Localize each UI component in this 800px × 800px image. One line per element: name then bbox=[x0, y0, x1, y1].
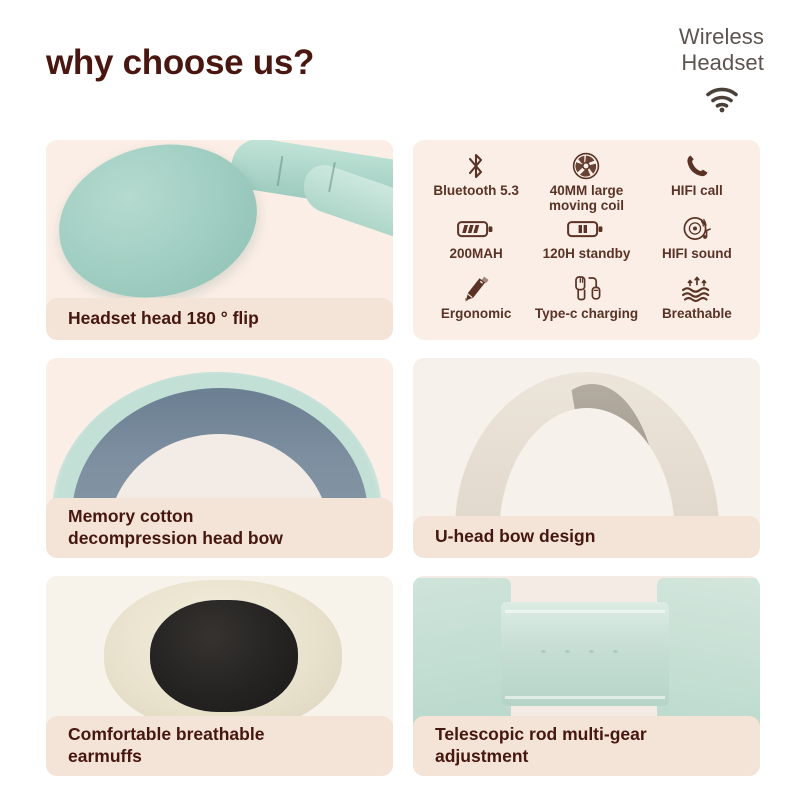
wifi-icon bbox=[584, 85, 764, 113]
card-caption: Comfortable breathable earmuffs bbox=[46, 716, 393, 776]
spec-label: Breathable bbox=[662, 306, 732, 321]
feature-row-3: Comfortable breathable earmuffs Telescop bbox=[46, 576, 760, 776]
spec-label: Ergonomic bbox=[441, 306, 512, 321]
pencil-ruler-icon bbox=[461, 273, 491, 305]
usb-c-cable-icon bbox=[570, 273, 602, 305]
card-caption: Headset head 180 ° flip bbox=[46, 298, 393, 340]
spec-label: 200MAH bbox=[450, 246, 503, 261]
spec-item-standby[interactable]: 120H standby bbox=[531, 213, 641, 272]
card-u-head-bow[interactable]: U-head bow design bbox=[413, 358, 760, 558]
card-earmuffs[interactable]: Comfortable breathable earmuffs bbox=[46, 576, 393, 776]
bluetooth-icon bbox=[465, 150, 487, 182]
page-header: why choose us? Wireless Headset bbox=[0, 0, 800, 140]
battery-half-icon bbox=[567, 213, 605, 245]
spec-item-hifi-sound[interactable]: HIFI sound bbox=[642, 213, 752, 272]
driver-coil-icon bbox=[571, 150, 601, 182]
brand-line-2: Headset bbox=[584, 50, 764, 76]
breathable-icon bbox=[680, 273, 714, 305]
page-title: why choose us? bbox=[46, 43, 314, 83]
spec-item-ergonomic[interactable]: Ergonomic bbox=[421, 273, 531, 332]
spec-label: Bluetooth 5.3 bbox=[433, 183, 519, 198]
spec-label: 120H standby bbox=[543, 246, 631, 261]
spec-item-type-c[interactable]: Type-c charging bbox=[531, 273, 641, 332]
spec-label: HIFI sound bbox=[662, 246, 732, 261]
battery-full-icon bbox=[457, 213, 495, 245]
card-telescopic-rod[interactable]: Telescopic rod multi-gear adjustment bbox=[413, 576, 760, 776]
spec-item-breathable[interactable]: Breathable bbox=[642, 273, 752, 332]
caption-text: U-head bow design bbox=[435, 525, 760, 547]
spec-label: Type-c charging bbox=[535, 306, 638, 321]
feature-row-2: Memory cotton decompression head bow U-h… bbox=[46, 358, 760, 558]
spec-label: HIFI call bbox=[671, 183, 723, 198]
spec-item-bluetooth[interactable]: Bluetooth 5.3 bbox=[421, 150, 531, 213]
infographic-page: why choose us? Wireless Headset bbox=[0, 0, 800, 800]
card-caption: Telescopic rod multi-gear adjustment bbox=[413, 716, 760, 776]
spec-item-driver-coil[interactable]: 40MM large moving coil bbox=[531, 150, 641, 213]
brand-line-1: Wireless bbox=[584, 24, 764, 50]
caption-text: Headset head 180 ° flip bbox=[68, 307, 393, 329]
phone-call-icon bbox=[684, 150, 710, 182]
card-caption: Memory cotton decompression head bow bbox=[46, 498, 393, 558]
spec-item-battery-capacity[interactable]: 200MAH bbox=[421, 213, 531, 272]
caption-text: Comfortable breathable earmuffs bbox=[68, 723, 393, 767]
card-headset-flip[interactable]: Headset head 180 ° flip bbox=[46, 140, 393, 340]
spec-label: 40MM large moving coil bbox=[549, 183, 624, 213]
caption-text: Memory cotton decompression head bow bbox=[68, 505, 393, 549]
spec-item-hifi-call[interactable]: HIFI call bbox=[642, 150, 752, 213]
feature-row-1: Headset head 180 ° flip Bluetooth 5.3 bbox=[46, 140, 760, 340]
vinyl-music-icon bbox=[682, 213, 712, 245]
caption-text: Telescopic rod multi-gear adjustment bbox=[435, 723, 760, 767]
spec-panel: Bluetooth 5.3 40MM bbox=[413, 140, 760, 340]
card-caption: U-head bow design bbox=[413, 516, 760, 558]
feature-grid: Headset head 180 ° flip Bluetooth 5.3 bbox=[46, 140, 760, 794]
brand-block: Wireless Headset bbox=[584, 24, 764, 113]
card-memory-cotton[interactable]: Memory cotton decompression head bow bbox=[46, 358, 393, 558]
